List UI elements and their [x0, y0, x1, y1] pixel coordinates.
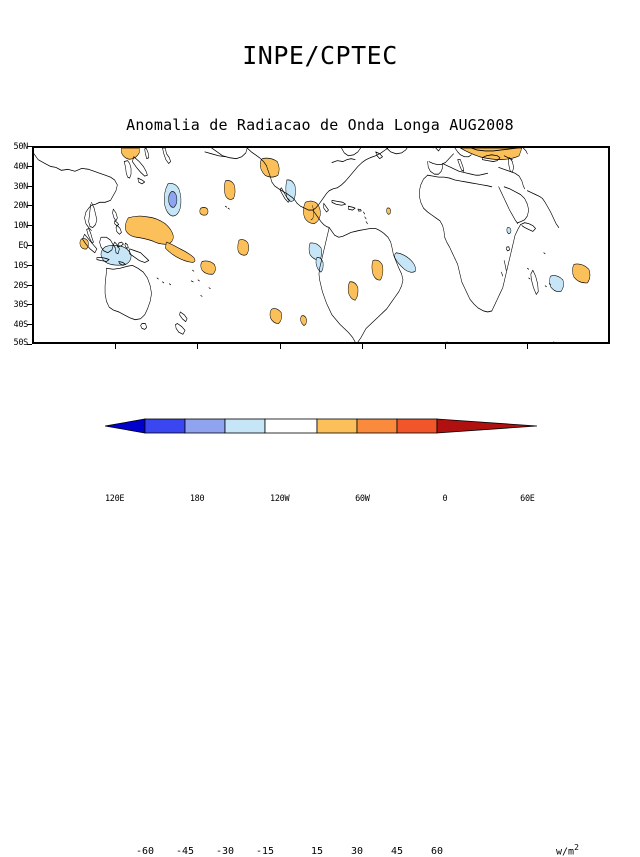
y-axis-label-50n: 50N: [14, 142, 28, 152]
x-tick-1: [197, 344, 198, 349]
x-axis-label-120e: 120E: [105, 494, 124, 504]
anomaly-brazil-interior: [372, 260, 383, 280]
units-exponent: 2: [574, 843, 579, 852]
x-axis-label-0: 0: [442, 494, 447, 504]
map-title: Anomalia de Radiacao de Onda Longa AUG20…: [0, 116, 640, 134]
coast-philippines-mid: [115, 221, 119, 226]
anomaly-chile-andes: [348, 282, 358, 301]
coast-japan: [132, 157, 147, 176]
coast-iberia: [428, 162, 443, 175]
anomaly-atlantic-subtropical: [395, 253, 416, 273]
coast-hawaii: [225, 206, 229, 209]
colorbar-label-minus60: -60: [136, 846, 154, 857]
coast-new-zealand-south: [175, 324, 185, 335]
x-axis-label-180: 180: [190, 494, 204, 504]
coast-africa-south: [455, 259, 492, 312]
coast-indochina: [89, 202, 97, 227]
colorbar-units: w/m2: [556, 843, 579, 857]
coast-halmahera: [125, 243, 128, 248]
coast-yucatan: [324, 203, 329, 212]
anomaly-sumatra-west: [80, 239, 89, 250]
x-axis-label-120w: 120W: [270, 494, 289, 504]
coast-madagascar: [531, 270, 539, 294]
coast-usa-east: [337, 148, 388, 188]
page-root: INPE/CPTEC Anomalia de Radiacao de Onda …: [0, 0, 640, 494]
x-tick-0: [115, 344, 116, 349]
coast-australia: [105, 265, 151, 319]
coast-africa-west: [419, 175, 455, 258]
y-axis-label-30s: 30S: [14, 300, 28, 310]
coast-persian-gulf: [527, 191, 542, 199]
x-tick-3: [362, 344, 363, 349]
colorbar-label-minus30: -30: [216, 846, 234, 857]
colorbar-seg-minus30-minus15: [225, 419, 265, 433]
colorbar-label-minus45: -45: [176, 846, 194, 857]
colorbar-label-60: 60: [431, 846, 443, 857]
coast-africa-lakes: [501, 261, 506, 277]
coast-pacific-islands-1: [157, 278, 171, 285]
anomaly-south-indian-ocean: [550, 276, 564, 292]
coast-india-west: [542, 198, 558, 227]
colorbar-graphic[interactable]: [105, 416, 537, 436]
y-axis-label-10n: 10N: [14, 221, 28, 231]
coast-lesser-antilles: [363, 212, 367, 224]
anomaly-central-north-pacific-core: [169, 192, 177, 208]
map-panel: 50N 40N 30N 20N 10N EQ 10S 20S 30S 40S 5…: [32, 146, 610, 344]
anomaly-west-pacific-warm-pool: [125, 216, 173, 244]
y-axis-label-eq: EQ: [18, 241, 28, 251]
anomaly-south-pacific: [201, 261, 216, 274]
y-axis-label-50s: 50S: [14, 338, 28, 348]
coast-philippines-luzon: [113, 209, 118, 221]
anomaly-eastern-pacific-colombia: [309, 243, 322, 260]
coast-mediterranean-north: [443, 164, 488, 176]
coast-kamchatka: [162, 148, 170, 164]
anomaly-indian-ocean-east: [572, 264, 589, 283]
coast-new-guinea: [130, 249, 149, 263]
x-axis-label-60e: 60E: [520, 494, 534, 504]
x-axis-label-60w: 60W: [355, 494, 369, 504]
coast-africa-north: [428, 175, 492, 187]
units-text: w/m: [556, 846, 574, 857]
colorbar-seg-minus45-minus30: [185, 419, 225, 433]
coast-italy: [458, 160, 464, 172]
colorbar-seg-lt-minus60: [105, 419, 145, 433]
anomaly-date-line-east: [224, 180, 235, 199]
anomaly-north-atlantic-tiny: [387, 208, 391, 214]
anomaly-mid-pacific-small: [200, 207, 208, 215]
colorbar-seg-15-30: [317, 419, 357, 433]
y-axis-label-10s: 10S: [14, 261, 28, 271]
anomaly-central-africa-tiny: [507, 227, 511, 233]
map-plot-area[interactable]: [32, 146, 610, 344]
anomaly-south-atlantic-small: [301, 316, 307, 326]
page-title: INPE/CPTEC: [0, 41, 640, 70]
anomaly-scandinavia-russia: [460, 148, 522, 160]
colorbar-label-45: 45: [391, 846, 403, 857]
coast-new-zealand-north: [180, 312, 188, 322]
coast-seychelles: [544, 253, 545, 254]
colorbar-label-minus15: -15: [256, 846, 274, 857]
coast-horn-of-africa: [521, 223, 536, 232]
coast-hispaniola: [348, 206, 355, 210]
y-axis-label-40n: 40N: [14, 162, 28, 172]
coast-novaya-zemlya: [523, 148, 527, 154]
coast-alaska: [212, 148, 248, 159]
coast-alaska-aleutians: [205, 152, 226, 157]
coast-mexico-gulf: [297, 188, 337, 210]
coast-puerto-rico: [358, 209, 361, 211]
coast-turkey-levant: [499, 167, 525, 188]
colorbar-label-15: 15: [311, 846, 323, 857]
y-axis-label-30n: 30N: [14, 182, 28, 192]
y-axis-label-20s: 20S: [14, 281, 28, 291]
coast-red-sea: [499, 187, 518, 224]
coast-africa-east: [492, 225, 521, 311]
coast-east-asia: [34, 154, 117, 231]
coast-philippines-mindanao: [116, 226, 121, 235]
coast-tasmania: [141, 324, 147, 330]
x-tick-2: [280, 344, 281, 349]
anomaly-central-america: [303, 201, 320, 224]
coast-lake-victoria: [506, 247, 509, 251]
anomaly-east-pacific-equator: [238, 240, 249, 256]
coast-caspian: [508, 158, 513, 173]
colorbar: -60 -45 -30 -15 15 30 45 60 w/m2: [0, 412, 640, 462]
x-tick-4: [445, 344, 446, 349]
coast-iberia-france: [429, 154, 454, 165]
x-tick-5: [527, 344, 528, 349]
coast-hudson-bay: [342, 148, 361, 156]
coast-sakhalin: [145, 148, 149, 159]
coast-arabia: [504, 187, 529, 223]
y-axis-label-20n: 20N: [14, 201, 28, 211]
coast-korea-peninsula: [124, 161, 131, 178]
coast-great-lakes: [332, 159, 355, 163]
coast-pacific-islands-3: [191, 281, 202, 297]
coast-reunion: [545, 286, 546, 287]
coast-japan-south: [138, 178, 145, 184]
anomaly-warm-pool-tail: [165, 242, 195, 262]
colorbar-seg-30-45: [357, 419, 397, 433]
coast-greenland-sw: [387, 148, 408, 154]
colorbar-seg-gt-60: [437, 419, 537, 433]
anomaly-shading-layer: [80, 148, 590, 326]
anomaly-southeast-pacific: [270, 309, 282, 324]
coast-cuba: [332, 200, 346, 205]
colorbar-seg-minus15-15: [265, 419, 317, 433]
colorbar-seg-minus60-minus45: [145, 419, 185, 433]
anomaly-north-pacific-japan: [121, 148, 139, 159]
coast-comoros: [527, 268, 530, 279]
world-map-graphic: [34, 148, 608, 342]
coast-british-isles: [430, 148, 440, 151]
colorbar-label-30: 30: [351, 846, 363, 857]
y-axis-label-40s: 40S: [14, 320, 28, 330]
colorbar-seg-45-60: [397, 419, 437, 433]
